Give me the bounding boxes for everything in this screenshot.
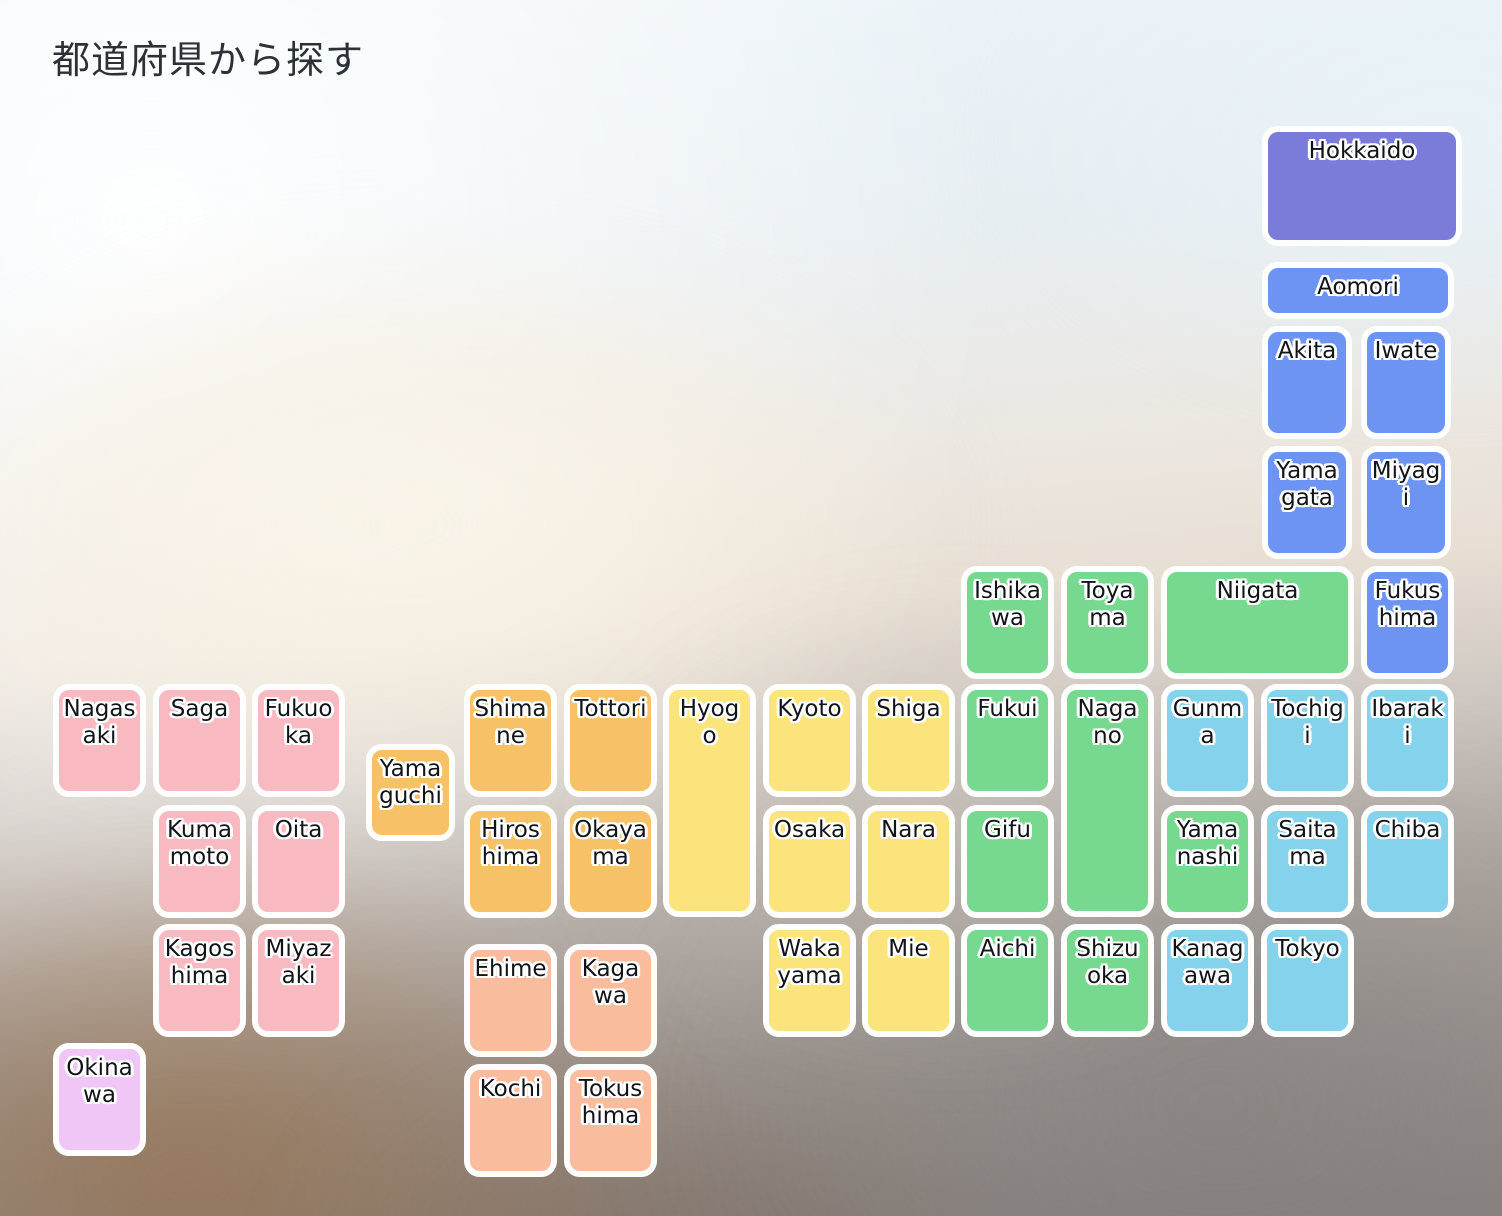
prefecture-tile-kyoto[interactable]: Kyoto: [763, 684, 856, 797]
prefecture-label: Fukushima: [1367, 572, 1448, 632]
prefecture-label: Fukuoka: [258, 690, 339, 750]
prefecture-tile-fukuoka[interactable]: Fukuoka: [252, 684, 345, 797]
prefecture-tile-iwate[interactable]: Iwate: [1361, 326, 1451, 439]
page-title: 都道府県から探す: [52, 33, 364, 87]
prefecture-tile-nagano[interactable]: Nagano: [1061, 684, 1154, 917]
prefecture-tile-kumamoto[interactable]: Kumamoto: [153, 805, 246, 918]
prefecture-tile-miyazaki[interactable]: Miyazaki: [252, 924, 345, 1037]
prefecture-tile-aomori[interactable]: Aomori: [1262, 262, 1454, 319]
prefecture-tile-ibaraki[interactable]: Ibaraki: [1361, 684, 1454, 797]
prefecture-label: Wakayama: [769, 930, 850, 990]
prefecture-label: Hokkaido: [1268, 132, 1456, 165]
prefecture-tile-aichi[interactable]: Aichi: [961, 924, 1054, 1037]
prefecture-tile-tochigi[interactable]: Tochigi: [1261, 684, 1354, 797]
prefecture-tile-shimane[interactable]: Shimane: [464, 684, 557, 797]
prefecture-tile-wakayama[interactable]: Wakayama: [763, 924, 856, 1037]
prefecture-tile-saitama[interactable]: Saitama: [1261, 805, 1354, 918]
prefecture-tile-hokkaido[interactable]: Hokkaido: [1262, 126, 1462, 246]
prefecture-label: Saitama: [1267, 811, 1348, 871]
prefecture-tile-gunma[interactable]: Gunma: [1161, 684, 1254, 797]
prefecture-label: Niigata: [1167, 572, 1348, 605]
prefecture-tile-ehime[interactable]: Ehime: [464, 944, 557, 1057]
prefecture-label: Ishikawa: [967, 572, 1048, 632]
prefecture-label: Akita: [1268, 332, 1346, 365]
prefecture-label: Kochi: [470, 1070, 551, 1103]
prefecture-label: Kagoshima: [159, 930, 240, 990]
prefecture-label: Gunma: [1167, 690, 1248, 750]
prefecture-tile-yamaguchi[interactable]: Yamaguchi: [366, 744, 455, 841]
prefecture-label: Ehime: [470, 950, 551, 983]
prefecture-label: Okayama: [570, 811, 651, 871]
prefecture-tile-tokyo[interactable]: Tokyo: [1261, 924, 1354, 1037]
prefecture-label: Chiba: [1367, 811, 1448, 844]
prefecture-label: Nara: [868, 811, 949, 844]
prefecture-label: Tottori: [570, 690, 651, 723]
prefecture-tile-toyama[interactable]: Toyama: [1061, 566, 1154, 679]
prefecture-tile-tokushima[interactable]: Tokushima: [564, 1064, 657, 1177]
prefecture-label: Kyoto: [769, 690, 850, 723]
prefecture-tile-nagasaki[interactable]: Nagasaki: [53, 684, 146, 797]
prefecture-label: Nagano: [1067, 690, 1148, 750]
prefecture-label: Ibaraki: [1367, 690, 1448, 750]
prefecture-tile-kanagawa[interactable]: Kanagawa: [1161, 924, 1254, 1037]
prefecture-tile-nara[interactable]: Nara: [862, 805, 955, 918]
prefecture-tile-niigata[interactable]: Niigata: [1161, 566, 1354, 679]
prefecture-label: Hiroshima: [470, 811, 551, 871]
prefecture-tile-fukui[interactable]: Fukui: [961, 684, 1054, 797]
prefecture-tile-shizuoka[interactable]: Shizuoka: [1061, 924, 1154, 1037]
prefecture-label: Tokyo: [1267, 930, 1348, 963]
prefecture-tile-miyagi[interactable]: Miyagi: [1361, 446, 1451, 559]
prefecture-tile-hyogo[interactable]: Hyogo: [663, 684, 756, 917]
prefecture-label: Kumamoto: [159, 811, 240, 871]
prefecture-tile-yamanashi[interactable]: Yamanashi: [1161, 805, 1254, 918]
prefecture-tile-okayama[interactable]: Okayama: [564, 805, 657, 918]
prefecture-tile-tottori[interactable]: Tottori: [564, 684, 657, 797]
prefecture-label: Yamagata: [1268, 452, 1346, 512]
prefecture-tile-hiroshima[interactable]: Hiroshima: [464, 805, 557, 918]
prefecture-tile-kagoshima[interactable]: Kagoshima: [153, 924, 246, 1037]
prefecture-tile-fukushima[interactable]: Fukushima: [1361, 566, 1454, 679]
prefecture-label: Oita: [258, 811, 339, 844]
prefecture-label: Okinawa: [59, 1049, 140, 1109]
prefecture-label: Aichi: [967, 930, 1048, 963]
prefecture-label: Shiga: [868, 690, 949, 723]
prefecture-tile-okinawa[interactable]: Okinawa: [53, 1043, 146, 1156]
prefecture-label: Yamaguchi: [372, 750, 449, 810]
prefecture-label: Mie: [868, 930, 949, 963]
prefecture-label: Aomori: [1268, 268, 1448, 301]
prefecture-label: Toyama: [1067, 572, 1148, 632]
prefecture-tile-ishikawa[interactable]: Ishikawa: [961, 566, 1054, 679]
prefecture-label: Tokushima: [570, 1070, 651, 1130]
prefecture-label: Nagasaki: [59, 690, 140, 750]
prefecture-tile-kochi[interactable]: Kochi: [464, 1064, 557, 1177]
prefecture-label: Miyagi: [1367, 452, 1445, 512]
prefecture-tile-mie[interactable]: Mie: [862, 924, 955, 1037]
prefecture-tile-saga[interactable]: Saga: [153, 684, 246, 797]
prefecture-label: Saga: [159, 690, 240, 723]
prefecture-tile-chiba[interactable]: Chiba: [1361, 805, 1454, 918]
prefecture-label: Iwate: [1367, 332, 1445, 365]
prefecture-label: Kanagawa: [1167, 930, 1248, 990]
prefecture-tile-oita[interactable]: Oita: [252, 805, 345, 918]
prefecture-tile-gifu[interactable]: Gifu: [961, 805, 1054, 918]
prefecture-label: Gifu: [967, 811, 1048, 844]
prefecture-label: Miyazaki: [258, 930, 339, 990]
prefecture-label: Tochigi: [1267, 690, 1348, 750]
prefecture-tile-akita[interactable]: Akita: [1262, 326, 1352, 439]
prefecture-tile-yamagata[interactable]: Yamagata: [1262, 446, 1352, 559]
prefecture-grid: HokkaidoAomoriAkitaIwateYamagataMiyagiIs…: [0, 0, 1502, 1216]
prefecture-tile-shiga[interactable]: Shiga: [862, 684, 955, 797]
prefecture-tile-kagawa[interactable]: Kagawa: [564, 944, 657, 1057]
prefecture-label: Shimane: [470, 690, 551, 750]
prefecture-label: Shizuoka: [1067, 930, 1148, 990]
prefecture-label: Kagawa: [570, 950, 651, 1010]
prefecture-label: Fukui: [967, 690, 1048, 723]
prefecture-label: Hyogo: [669, 690, 750, 750]
prefecture-label: Osaka: [769, 811, 850, 844]
prefecture-tile-osaka[interactable]: Osaka: [763, 805, 856, 918]
prefecture-label: Yamanashi: [1167, 811, 1248, 871]
